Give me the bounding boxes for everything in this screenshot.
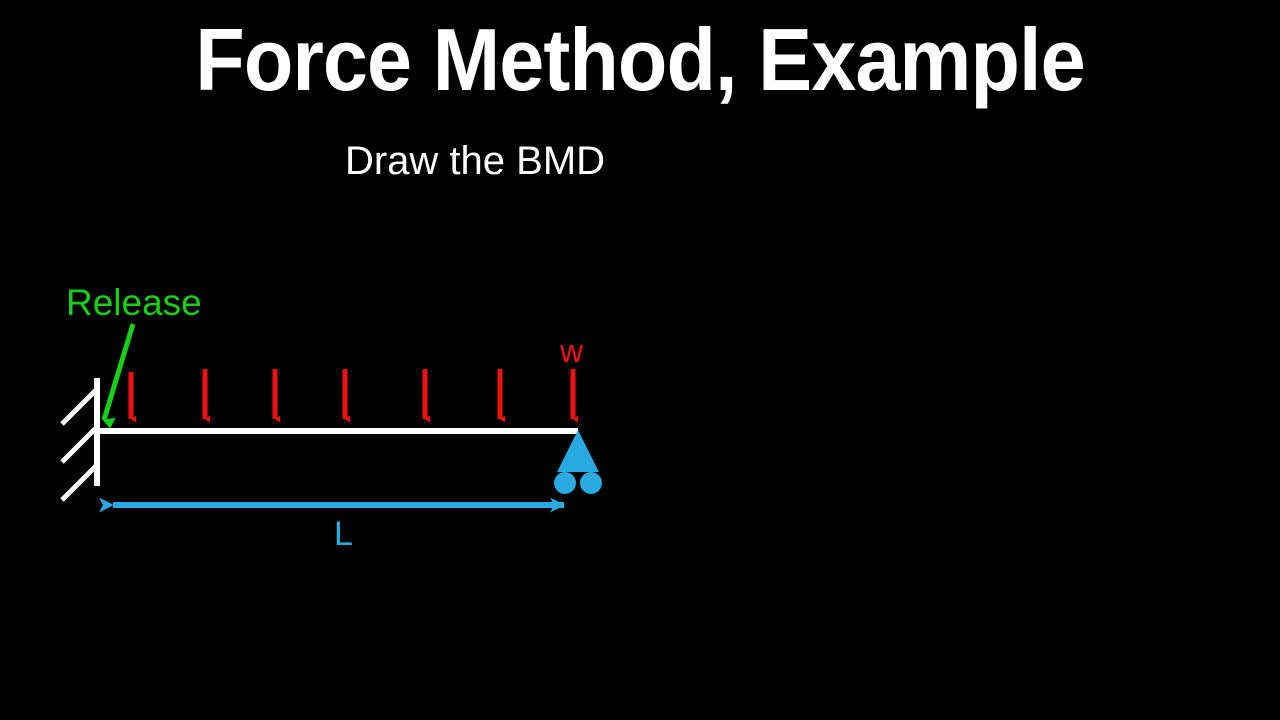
- fixed-support-hatch-1: [62, 390, 96, 424]
- slide-canvas: Force Method, Example Draw the BMD: [0, 0, 1280, 720]
- distributed-load-arrows: [131, 369, 573, 419]
- release-label: Release: [66, 283, 202, 323]
- span-length-label: L: [334, 515, 353, 553]
- fixed-support-hatch-3: [62, 466, 96, 500]
- beam-diagram: [0, 0, 1280, 720]
- roller-wheel-left: [554, 472, 576, 494]
- roller-support-triangle: [557, 430, 599, 472]
- fixed-support-hatch-2: [62, 428, 96, 462]
- roller-support: [554, 430, 602, 494]
- fixed-support: [62, 378, 97, 500]
- load-magnitude-label: w: [560, 334, 583, 368]
- roller-wheel-right: [580, 472, 602, 494]
